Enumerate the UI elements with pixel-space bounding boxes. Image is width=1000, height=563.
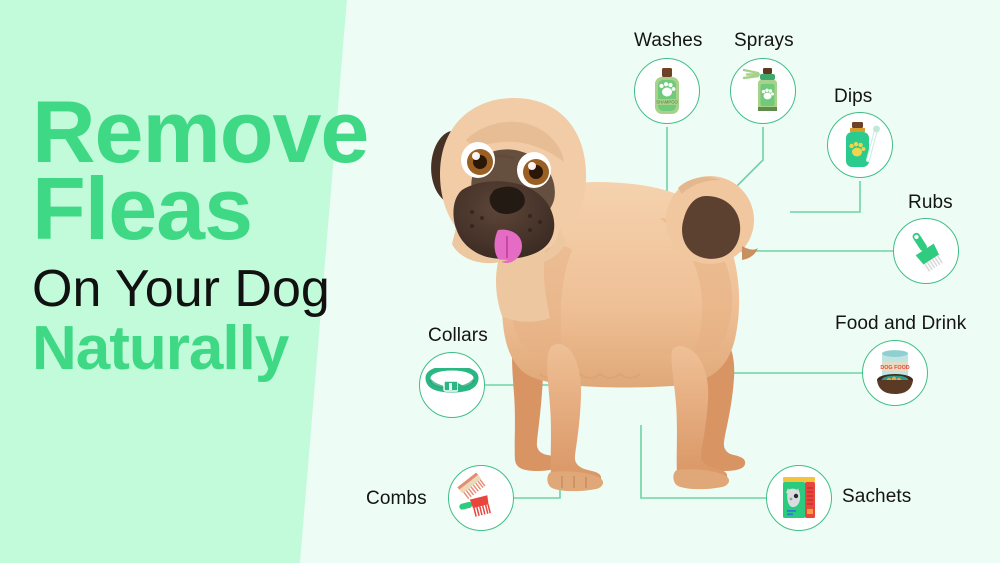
spray-mist [744, 70, 759, 78]
brush-icon[interactable] [893, 218, 959, 284]
dog-eye-left [461, 142, 495, 178]
dropper-pipette [868, 126, 880, 160]
callout-label-dips: Dips [834, 86, 872, 108]
callout-label-sachets: Sachets [842, 486, 911, 508]
callout-label-sprays: Sprays [734, 30, 794, 52]
flea-comb-icon[interactable] [448, 465, 514, 531]
dip-bottle-dropper-icon[interactable] [827, 112, 893, 178]
title-block: Remove Fleas On Your Dog Naturally [32, 92, 432, 377]
callout-label-rubs: Rubs [908, 192, 953, 214]
callout-label-combs: Combs [366, 488, 427, 510]
dog-food-label-text: DOG FOOD [880, 365, 909, 371]
dog-tail [666, 176, 758, 264]
comb-red [458, 495, 491, 520]
pug-dog-illustration [410, 78, 830, 498]
dog-food-bowl-icon[interactable]: DOG FOOD [862, 340, 928, 406]
callout-label-food-and-drink: Food and Drink [835, 313, 966, 335]
spray-can-icon[interactable] [730, 58, 796, 124]
title-line-fleas: Fleas [32, 169, 432, 250]
callout-label-collars: Collars [428, 325, 488, 347]
shampoo-bottle-icon[interactable]: SHAMPOO [634, 58, 700, 124]
dog-nose [490, 187, 525, 214]
title-line-on-your-dog: On Your Dog [32, 266, 432, 314]
dog-eye-right [517, 152, 551, 188]
title-line-naturally: Naturally [32, 320, 432, 377]
food-bowl [877, 374, 913, 394]
infographic-canvas: Remove Fleas On Your Dog Naturally [0, 0, 1000, 563]
callout-label-washes: Washes [634, 30, 703, 52]
comb-cream [457, 473, 486, 500]
food-sachet-bag-icon[interactable] [766, 465, 832, 531]
shampoo-label-text: SHAMPOO [656, 100, 678, 105]
